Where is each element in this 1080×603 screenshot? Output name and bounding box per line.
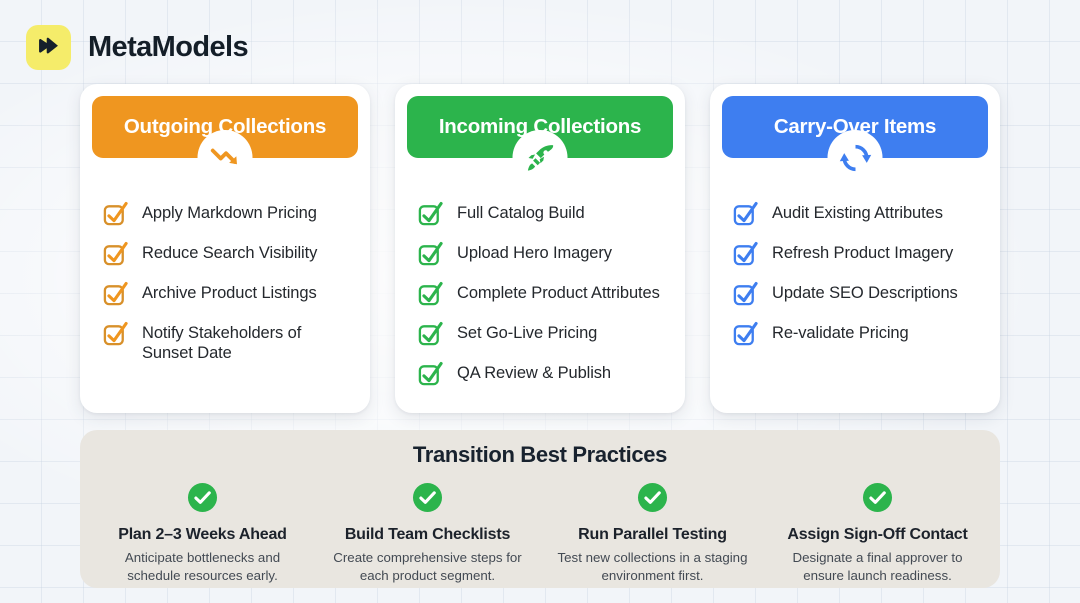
list-item-label: Set Go-Live Pricing [457,322,597,343]
brand-lockup: MetaModels [26,25,248,70]
list-item[interactable]: Full Catalog Build [417,202,669,228]
checkbox-checked-icon[interactable] [417,281,444,308]
list-item[interactable]: Archive Product Listings [102,282,354,308]
list-item-label: Audit Existing Attributes [772,202,943,223]
list-item-label: Notify Stakeholders of Sunset Date [142,322,354,363]
refresh-sync-icon [838,141,872,175]
checkbox-checked-icon[interactable] [102,321,129,348]
checklist-items-carry-over: Audit Existing Attributes Refresh Produc… [722,198,988,348]
practice-item: Run Parallel Testing Test new collection… [540,482,765,584]
list-item-label: Apply Markdown Pricing [142,202,317,223]
practice-description: Test new collections in a staging enviro… [548,549,757,584]
checkbox-checked-icon[interactable] [417,321,444,348]
rocket-icon [524,142,556,174]
list-item[interactable]: Complete Product Attributes [417,282,669,308]
list-item-label: Complete Product Attributes [457,282,660,303]
check-circle-icon [187,482,218,513]
brand-name: MetaModels [88,31,248,64]
list-item[interactable]: Apply Markdown Pricing [102,202,354,228]
checkbox-checked-icon[interactable] [732,281,759,308]
checkbox-checked-icon[interactable] [102,201,129,228]
badge-carry-over [828,130,883,185]
practice-description: Anticipate bottlenecks and schedule reso… [98,549,307,584]
list-item[interactable]: Upload Hero Imagery [417,242,669,268]
list-item[interactable]: Notify Stakeholders of Sunset Date [102,322,354,363]
infographic-page: MetaModels Outgoing Collections [0,0,1080,603]
badge-incoming [513,130,568,185]
practice-item: Build Team Checklists Create comprehensi… [315,482,540,584]
list-item-label: Refresh Product Imagery [772,242,953,263]
list-item[interactable]: Audit Existing Attributes [732,202,984,228]
list-item-label: Full Catalog Build [457,202,585,223]
list-item-label: Archive Product Listings [142,282,317,303]
card-header-outgoing: Outgoing Collections [92,96,358,158]
practice-item: Assign Sign-Off Contact Designate a fina… [765,482,990,584]
check-circle-icon [637,482,668,513]
card-header-carry-over: Carry-Over Items [722,96,988,158]
trend-down-arrow-icon [208,141,242,175]
practice-description: Create comprehensive steps for each prod… [323,549,532,584]
list-item-label: QA Review & Publish [457,362,611,383]
list-item-label: Update SEO Descriptions [772,282,958,303]
list-item[interactable]: QA Review & Publish [417,362,669,388]
practice-title: Plan 2–3 Weeks Ahead [118,526,287,544]
checkbox-checked-icon[interactable] [732,321,759,348]
zigzag-bolt-icon [35,32,62,64]
card-header-incoming: Incoming Collections [407,96,673,158]
practice-title: Build Team Checklists [345,526,510,544]
list-item[interactable]: Update SEO Descriptions [732,282,984,308]
card-incoming-collections: Incoming Collections [395,84,685,413]
panel-title: Transition Best Practices [90,442,990,468]
checkbox-checked-icon[interactable] [417,361,444,388]
practice-title: Assign Sign-Off Contact [787,526,967,544]
checklist-items-outgoing: Apply Markdown Pricing Reduce Search Vis… [92,198,358,363]
check-circle-icon [862,482,893,513]
list-item[interactable]: Re-validate Pricing [732,322,984,348]
checkbox-checked-icon[interactable] [102,281,129,308]
practice-item: Plan 2–3 Weeks Ahead Anticipate bottlene… [90,482,315,584]
card-carry-over-items: Carry-Over Items [710,84,1000,413]
checkbox-checked-icon[interactable] [102,241,129,268]
app-logo [26,25,71,70]
checklist-items-incoming: Full Catalog Build Upload Hero Imagery [407,198,673,388]
checkbox-checked-icon[interactable] [417,201,444,228]
list-item-label: Upload Hero Imagery [457,242,612,263]
list-item[interactable]: Refresh Product Imagery [732,242,984,268]
list-item[interactable]: Reduce Search Visibility [102,242,354,268]
list-item[interactable]: Set Go-Live Pricing [417,322,669,348]
check-circle-icon [412,482,443,513]
best-practices-panel: Transition Best Practices Plan 2–3 Weeks… [80,430,1000,588]
practices-row: Plan 2–3 Weeks Ahead Anticipate bottlene… [90,482,990,584]
practice-title: Run Parallel Testing [578,526,727,544]
badge-outgoing [198,130,253,185]
checkbox-checked-icon[interactable] [732,201,759,228]
checkbox-checked-icon[interactable] [732,241,759,268]
list-item-label: Re-validate Pricing [772,322,909,343]
card-outgoing-collections: Outgoing Collections [80,84,370,413]
checkbox-checked-icon[interactable] [417,241,444,268]
practice-description: Designate a final approver to ensure lau… [773,549,982,584]
list-item-label: Reduce Search Visibility [142,242,317,263]
checklist-columns: Outgoing Collections [80,84,1000,413]
